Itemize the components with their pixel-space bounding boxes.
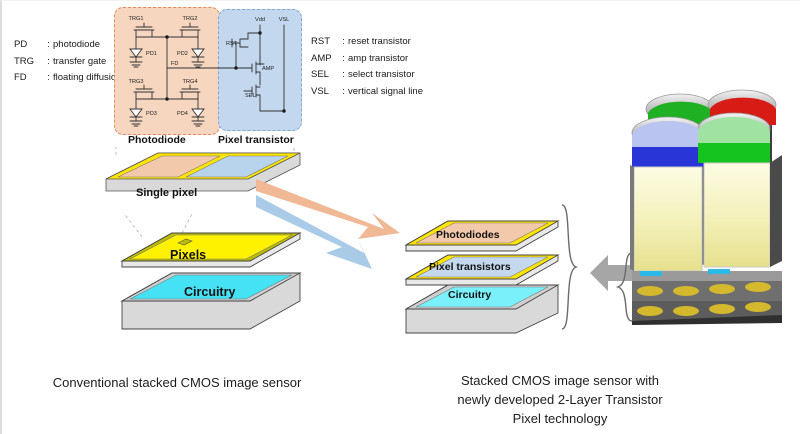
caption-conventional: Conventional stacked CMOS image sensor	[2, 373, 352, 392]
circuit-label-vdd: Vdd	[255, 17, 265, 23]
legend-abbr: SEL	[311, 67, 339, 84]
photodiode-block-caption: Photodiode	[128, 134, 186, 146]
pixel-transistor-layer	[632, 269, 782, 321]
caption-line-2: newly developed 2-Layer Transistor	[400, 390, 720, 409]
pixel-circuit-schematic: TRG1 TRG2 TRG3 TRG4 PD1 PD2 PD3 PD4 FD V…	[114, 7, 302, 135]
legend-row-trg: TRG : transfer gate	[14, 54, 122, 71]
layer-label-circuitry: Circuitry	[184, 285, 235, 299]
legend-separator: :	[339, 34, 348, 51]
junction-dot	[165, 97, 168, 100]
stack-grouping-brace	[558, 203, 584, 331]
circuit-label-fd: FD	[171, 61, 178, 67]
legend-description: floating diffusion	[53, 70, 122, 87]
legend-description: transfer gate	[53, 54, 106, 71]
legend-abbr: RST	[311, 34, 339, 51]
legend-separator: :	[339, 84, 348, 101]
color-filter-green	[698, 143, 770, 163]
legend-description: select transistor	[348, 67, 415, 84]
layer-label-circuitry-new: Circuitry	[448, 289, 491, 301]
layer-label-photodiodes: Photodiodes	[436, 229, 500, 241]
conventional-sensor-stack	[110, 213, 310, 338]
circuit-label-trg1: TRG1	[129, 16, 144, 22]
abbreviation-legend-right: RST : reset transistor AMP : amp transis…	[311, 34, 423, 100]
legend-separator: :	[44, 70, 53, 87]
circuit-label-pd1: PD1	[146, 51, 157, 57]
legend-row-fd: FD : floating diffusion	[14, 70, 122, 87]
junction-dot	[258, 31, 261, 34]
legend-abbr: AMP	[311, 51, 339, 68]
abbreviation-legend-left: PD : photodiode TRG : transfer gate FD :…	[14, 37, 122, 87]
circuit-label-trg4: TRG4	[183, 79, 198, 85]
legend-abbr: VSL	[311, 84, 339, 101]
caption-line-1: Stacked CMOS image sensor with	[400, 371, 720, 390]
caption-new-technology: Stacked CMOS image sensor with newly dev…	[400, 371, 720, 428]
photodiode-wells	[634, 163, 770, 271]
legend-separator: :	[44, 54, 53, 71]
legend-abbr: PD	[14, 37, 44, 54]
circuit-label-trg2: TRG2	[183, 16, 198, 22]
legend-row-sel: SEL : select transistor	[311, 67, 423, 84]
circuit-wiring: TRG1 TRG2 TRG3 TRG4 PD1 PD2 PD3 PD4 FD V…	[114, 7, 302, 135]
legend-description: amp transistor	[348, 51, 408, 68]
circuit-label-rst: RST	[226, 41, 238, 47]
legend-separator: :	[339, 67, 348, 84]
legend-row-pd: PD : photodiode	[14, 37, 122, 54]
legend-description: vertical signal line	[348, 84, 423, 101]
layer-label-pixel-transistors: Pixel transistors	[429, 261, 511, 273]
circuit-label-amp: AMP	[262, 66, 274, 72]
junction-dot	[234, 66, 237, 69]
legend-abbr: TRG	[14, 54, 44, 71]
legend-row-amp: AMP : amp transistor	[311, 51, 423, 68]
circuit-label-sel: SEL	[245, 93, 256, 99]
single-pixel-label: Single pixel	[136, 187, 197, 199]
legend-abbr: FD	[14, 70, 44, 87]
circuit-label-pd2: PD2	[177, 51, 188, 57]
diagram-canvas: PD : photodiode TRG : transfer gate FD :…	[0, 0, 800, 434]
junction-dot	[282, 109, 285, 112]
circuit-label-pd3: PD3	[146, 111, 157, 117]
legend-row-rst: RST : reset transistor	[311, 34, 423, 51]
caption-line-3: Pixel technology	[400, 409, 720, 428]
junction-dot	[165, 35, 168, 38]
2-layer-transistor-pixel-3d-render	[622, 85, 794, 325]
legend-row-vsl: VSL : vertical signal line	[311, 84, 423, 101]
circuit-label-pd4: PD4	[177, 111, 188, 117]
legend-separator: :	[44, 37, 53, 54]
pixel-transistor-block-caption: Pixel transistor	[218, 134, 294, 146]
legend-description: reset transistor	[348, 34, 411, 51]
legend-description: photodiode	[53, 37, 100, 54]
legend-separator: :	[339, 51, 348, 68]
circuit-label-vsl: VSL	[279, 17, 290, 23]
layer-label-pixels: Pixels	[170, 248, 206, 262]
circuit-label-trg3: TRG3	[129, 79, 144, 85]
color-filter-blue	[632, 147, 704, 167]
